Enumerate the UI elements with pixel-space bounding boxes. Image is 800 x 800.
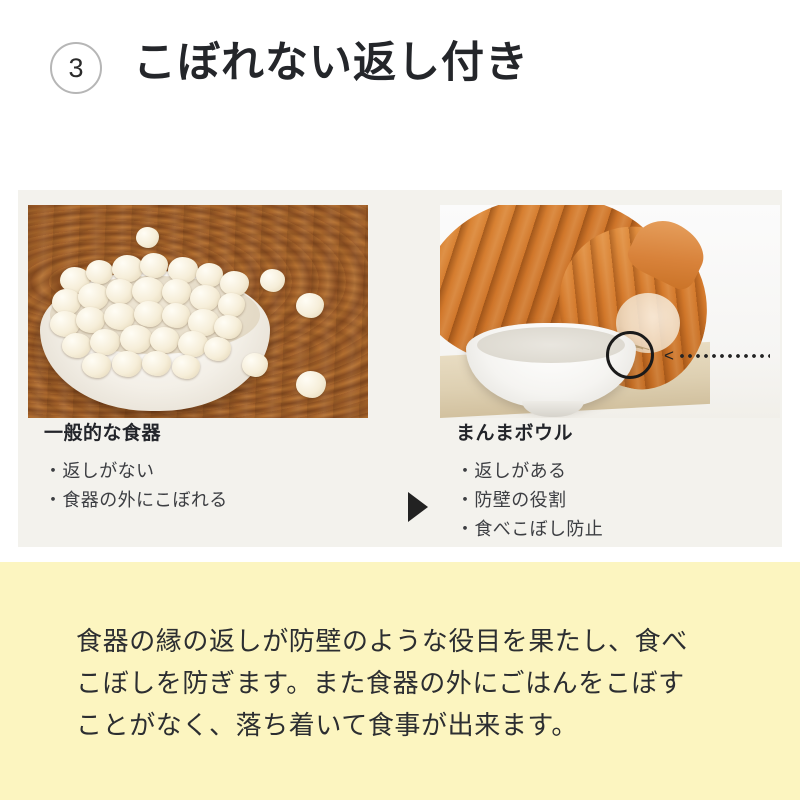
comparison-panel: 一般的な食器 ・返しがない ・食器の外にこぼれる (18, 190, 782, 547)
popcorn-kernel (214, 315, 242, 339)
popcorn-kernel (78, 283, 109, 310)
before-bullet-list: ・返しがない ・食器の外にこぼれる (44, 457, 374, 515)
popcorn-kernel (82, 353, 111, 378)
dotted-arrow-left-icon: < (664, 348, 772, 364)
footer-description: 食器の縁の返しが防壁のような役目を果たし、食べ こぼしを防ぎます。また食器の外に… (76, 620, 736, 746)
footer-line: 食器の縁の返しが防壁のような役目を果たし、食べ (76, 620, 736, 662)
step-number-badge: 3 (50, 42, 102, 94)
page-title: こぼれない返し付き (133, 38, 529, 90)
popcorn-kernel (204, 337, 231, 361)
popcorn-kernel (150, 327, 179, 353)
popcorn-kernel (134, 301, 164, 327)
spilled-popcorn-kernel (260, 269, 285, 292)
arrow-dots (678, 354, 770, 358)
popcorn-kernel (140, 253, 168, 278)
spilled-popcorn-kernel (136, 227, 159, 248)
popcorn-kernel (62, 333, 91, 358)
footer-line: こぼしを防ぎます。また食器の外にごはんをこぼす (76, 662, 736, 704)
after-photo: < (440, 205, 780, 418)
list-item: ・返しがない (44, 457, 374, 486)
comparison-column-before: 一般的な食器 ・返しがない ・食器の外にこぼれる (28, 190, 380, 547)
arrow-head: < (664, 349, 674, 363)
step-number-label: 3 (68, 55, 83, 82)
spilled-popcorn-kernel (296, 371, 326, 398)
after-bullet-list: ・返しがある ・防壁の役割 ・食べこぼし防止 (456, 457, 786, 544)
popcorn-kernel (106, 279, 134, 304)
popcorn-kernel (90, 329, 120, 355)
popcorn-kernel (162, 303, 190, 328)
popcorn-kernel (142, 351, 171, 376)
page-header: 3 こぼれない返し付き (0, 0, 800, 150)
popcorn-kernel (112, 351, 142, 377)
triangle-right-icon (408, 492, 428, 522)
manma-bowl-inner (477, 327, 625, 363)
spilled-popcorn-kernel (296, 293, 324, 318)
comparison-column-after: < まんまボウル ・返しがある ・防壁の役割 ・食べこぼし防止 (440, 190, 792, 547)
popcorn-kernel (86, 260, 113, 284)
footer-band: 食器の縁の返しが防壁のような役目を果たし、食べ こぼしを防ぎます。また食器の外に… (0, 562, 800, 800)
popcorn-kernel (112, 255, 143, 282)
popcorn-kernel (172, 355, 200, 379)
list-item: ・食べこぼし防止 (456, 515, 786, 544)
popcorn-kernel (220, 271, 249, 296)
list-item: ・返しがある (456, 457, 786, 486)
list-item: ・防壁の役割 (456, 486, 786, 515)
footer-line: ことがなく、落ち着いて食事が出来ます。 (76, 704, 736, 746)
popcorn-kernel (162, 279, 191, 305)
before-caption-title: 一般的な食器 (44, 422, 374, 447)
popcorn-kernel (190, 285, 220, 311)
popcorn-kernel (178, 331, 208, 357)
spilled-popcorn-kernel (242, 353, 268, 377)
before-photo (28, 205, 368, 418)
circle-highlight-icon (606, 331, 654, 379)
popcorn-kernel (196, 263, 223, 287)
after-caption-title: まんまボウル (456, 422, 786, 447)
list-item: ・食器の外にこぼれる (44, 486, 374, 515)
before-caption: 一般的な食器 ・返しがない ・食器の外にこぼれる (44, 422, 374, 515)
popcorn-kernel (120, 325, 152, 353)
after-caption: まんまボウル ・返しがある ・防壁の役割 ・食べこぼし防止 (456, 422, 786, 544)
popcorn-kernel (218, 293, 245, 317)
